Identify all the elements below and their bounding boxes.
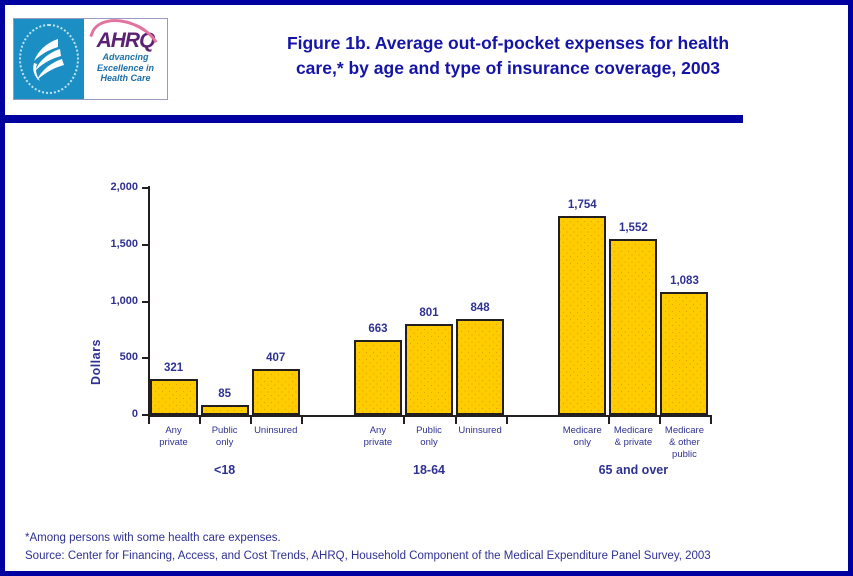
bar <box>201 405 249 415</box>
bar <box>558 216 606 415</box>
ahrq-tagline-line-3: Health Care <box>84 73 167 84</box>
figure-header: AHRQ Advancing Excellence in Health Care… <box>5 5 848 110</box>
footnote-asterisk: *Among persons with some health care exp… <box>25 529 835 547</box>
x-axis-tick-mark <box>659 417 661 424</box>
y-axis-tick-label: 2,000 <box>78 182 138 193</box>
x-axis-category-label-line: public <box>639 449 729 461</box>
x-axis-category-label-line: & other <box>639 437 729 449</box>
x-axis-tick-mark <box>199 417 201 424</box>
ahrq-tagline-line-2: Excellence in <box>84 63 167 74</box>
x-axis-category-label-line: Uninsured <box>231 425 321 437</box>
hhs-seal-icon <box>14 19 84 99</box>
x-axis-category-label-line: only <box>180 437 270 449</box>
x-axis-tick-mark <box>506 417 508 424</box>
y-axis-tick-mark <box>142 244 149 246</box>
x-axis-tick-mark <box>250 417 252 424</box>
x-axis-category-label: Uninsured <box>231 425 321 437</box>
agency-logo: AHRQ Advancing Excellence in Health Care <box>13 18 168 100</box>
y-axis-tick-mark <box>142 187 149 189</box>
x-axis-tick-mark <box>148 417 150 424</box>
figure-page: AHRQ Advancing Excellence in Health Care… <box>0 0 853 576</box>
x-axis-tick-mark <box>608 417 610 424</box>
y-axis-tick-label: 500 <box>78 352 138 363</box>
bar-value-label: 407 <box>236 352 316 364</box>
bar-value-label: 1,754 <box>542 199 622 211</box>
y-axis-tick-mark <box>142 414 149 416</box>
bar-value-label: 1,083 <box>644 275 724 287</box>
figure-title-line-2: care,* by age and type of insurance cove… <box>183 56 833 81</box>
x-axis-tick-mark <box>710 417 712 424</box>
x-axis-line <box>148 415 712 417</box>
y-axis-tick-label: 1,000 <box>78 296 138 307</box>
bar-value-label: 321 <box>134 362 214 374</box>
header-divider <box>5 115 743 123</box>
x-axis-tick-mark <box>301 417 303 424</box>
bar <box>354 340 402 415</box>
y-axis-tick-mark <box>142 301 149 303</box>
x-axis-tick-mark <box>403 417 405 424</box>
bar-value-label: 1,552 <box>593 222 673 234</box>
hhs-seal-bird-icon <box>28 35 70 83</box>
x-axis-group-label: <18 <box>145 463 305 477</box>
y-axis-tick-label: 0 <box>78 409 138 420</box>
x-axis-category-label: Medicare& otherpublic <box>639 425 729 461</box>
x-axis-category-label-line: only <box>384 437 474 449</box>
ahrq-logo: AHRQ Advancing Excellence in Health Care <box>84 19 167 99</box>
bar <box>405 324 453 415</box>
x-axis-category-label-line: Medicare <box>639 425 729 437</box>
x-axis-category-label-line: Uninsured <box>435 425 525 437</box>
x-axis-group-label: 18-64 <box>349 463 509 477</box>
x-axis-tick-mark <box>455 417 457 424</box>
bar <box>660 292 708 415</box>
bar-chart: Dollars 2,0001,5001,0005000 321854076638… <box>5 125 848 515</box>
footnote-source: Source: Center for Financing, Access, an… <box>25 547 835 565</box>
x-axis-group-label: 65 and over <box>553 463 713 477</box>
x-axis-category-label: Uninsured <box>435 425 525 437</box>
figure-title: Figure 1b. Average out-of-pocket expense… <box>183 31 833 81</box>
bar <box>456 319 504 415</box>
bar <box>252 369 300 415</box>
bar-value-label: 848 <box>440 302 520 314</box>
figure-title-line-1: Figure 1b. Average out-of-pocket expense… <box>183 31 833 56</box>
y-axis-tick-label: 1,500 <box>78 239 138 250</box>
y-axis-tick-mark <box>142 357 149 359</box>
bar <box>609 239 657 415</box>
figure-footnotes: *Among persons with some health care exp… <box>25 529 835 565</box>
